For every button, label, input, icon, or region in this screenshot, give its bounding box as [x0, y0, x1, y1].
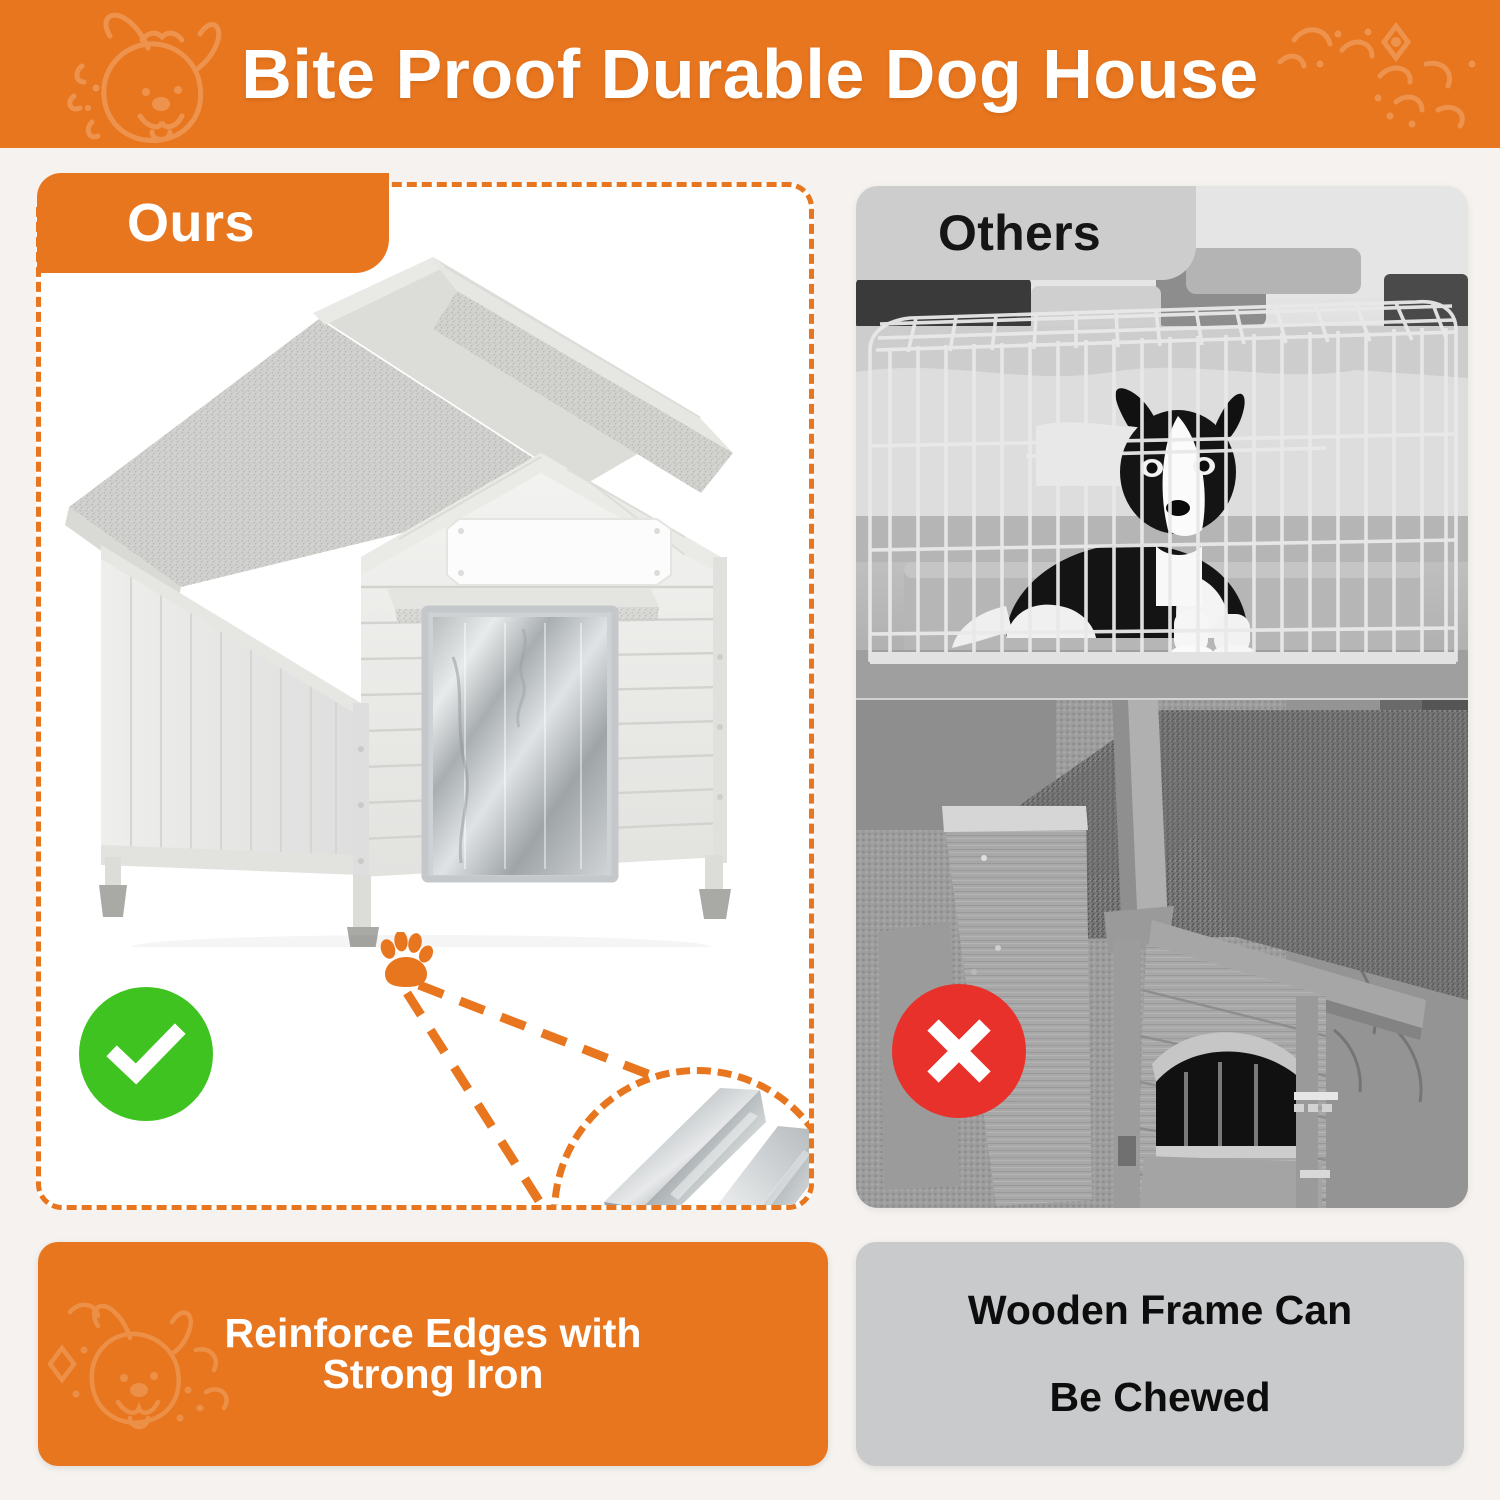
ours-panel: Ours [36, 182, 814, 1210]
angle-iron-bracket-image [552, 1068, 809, 1205]
product-image-dog-house [61, 257, 801, 947]
ours-caption-box: Reinforce Edges with Strong Iron [38, 1242, 828, 1466]
check-icon [103, 1011, 189, 1097]
ours-label-badge: Ours [37, 173, 389, 273]
status-badge-bad [892, 984, 1026, 1118]
others-panel: Others [856, 186, 1468, 1208]
status-badge-good [79, 987, 213, 1121]
header-banner: Bite Proof Durable Dog House [0, 0, 1500, 148]
ours-caption-line2: Strong Iron [323, 1354, 544, 1395]
infographic-page: Bite Proof Durable Dog House [0, 0, 1500, 1500]
page-title: Bite Proof Durable Dog House [0, 0, 1500, 148]
others-label-text: Others [856, 204, 1101, 262]
others-caption-box: Wooden Frame Can Be Chewed [856, 1242, 1464, 1466]
ours-caption-line1: Reinforce Edges with [225, 1313, 642, 1354]
ours-panel-inner [41, 187, 809, 1205]
photo-wooden-doghouse [856, 700, 1468, 1208]
others-caption-line2: Be Chewed [1050, 1377, 1271, 1418]
others-caption-line1: Wooden Frame Can [968, 1290, 1352, 1331]
paw-print-icon [378, 932, 434, 990]
nameplate [447, 519, 671, 585]
ours-label-text: Ours [37, 192, 255, 254]
cross-icon [919, 1011, 999, 1091]
others-label-badge: Others [856, 186, 1196, 280]
callout-zoom-circle [551, 1067, 809, 1205]
